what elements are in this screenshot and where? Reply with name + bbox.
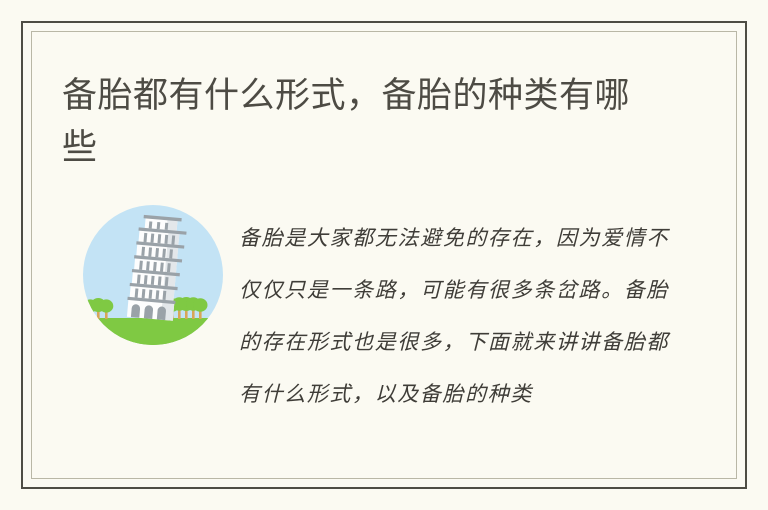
leaning-tower-of-pisa-icon [83, 205, 223, 345]
article-content: 备胎都有什么形式，备胎的种类有哪些 [32, 32, 736, 478]
article-card: 备胎都有什么形式，备胎的种类有哪些 [21, 21, 747, 489]
inner-frame-border: 备胎都有什么形式，备胎的种类有哪些 [31, 31, 737, 479]
page-title: 备胎都有什么形式，备胎的种类有哪些 [62, 70, 662, 174]
article-body-text: 备胎是大家都无法避免的存在，因为爱情不仅仅只是一条路，可能有很多条岔路。备胎的存… [239, 212, 669, 420]
